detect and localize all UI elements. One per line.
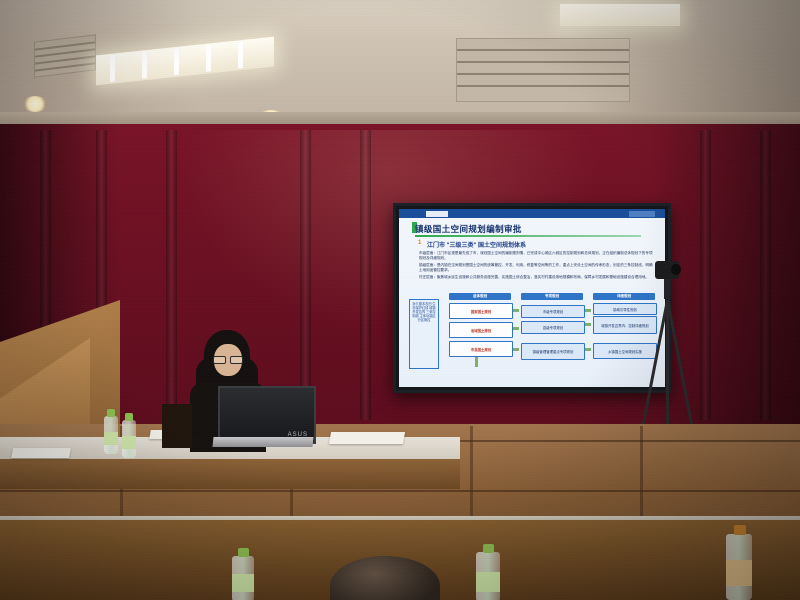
stage-chair-shadow bbox=[162, 404, 192, 448]
slide-content: 镇级国土空间规划编制审批 1 江门市 "三级三类" 国土空间规划体系 市级层面：… bbox=[399, 209, 665, 387]
diagram-arrow-down bbox=[475, 357, 478, 367]
slide-section-number: 1 bbox=[418, 240, 421, 246]
water-bottle-2 bbox=[122, 420, 136, 458]
tripod-head bbox=[664, 279, 670, 299]
wall-drape-seam-4 bbox=[300, 130, 311, 420]
slide-title: 镇级国土空间规划编制审批 bbox=[415, 223, 522, 235]
slide-top-bar-right bbox=[629, 211, 655, 217]
wall-drape-seam-3 bbox=[166, 130, 177, 420]
downlight-1 bbox=[22, 96, 48, 112]
water-bottle-4 bbox=[476, 552, 500, 600]
diagram-arrow-5 bbox=[585, 323, 591, 326]
diagram-main-1: 省域国土规划 bbox=[449, 322, 513, 338]
slide-section-title: 江门市 "三级三类" 国土空间规划体系 bbox=[427, 240, 526, 249]
diagram-arrow-1 bbox=[513, 309, 519, 312]
diagram-main-0: 国家国土规划 bbox=[449, 303, 513, 319]
ceiling-vent-left bbox=[34, 34, 96, 78]
ceiling-light-panel-right bbox=[560, 4, 680, 26]
presenter-table-front bbox=[0, 459, 460, 489]
slide-bullet-2: 镇级层面：是内镇在空间规划是国土空间的统筹管控，开发、利用、修复等空间等的工作，… bbox=[419, 263, 655, 272]
slide-title-rule bbox=[415, 235, 641, 237]
document-stack-2 bbox=[11, 448, 71, 458]
diagram-col-head-1: 专项规划 bbox=[521, 293, 583, 300]
laptop-screen: ASUS bbox=[218, 386, 316, 444]
diagram-arrow-4 bbox=[585, 309, 591, 312]
diagram-detail-0: 镇域引导性规划 bbox=[593, 303, 657, 315]
wall-drape-seam-5 bbox=[360, 130, 371, 420]
diagram-arrow-3 bbox=[513, 348, 519, 351]
water-bottle-3 bbox=[232, 556, 254, 600]
slide-top-bar-tab bbox=[426, 211, 448, 217]
diagram-arrow-2 bbox=[513, 327, 519, 330]
ceiling-vent-center bbox=[456, 38, 630, 102]
diagram-col-head-0: 总体规划 bbox=[449, 293, 511, 300]
diagram-special-0: 市级专项规划 bbox=[521, 305, 585, 318]
diagram-main-2: 市县国土规划 bbox=[449, 341, 513, 357]
slide-bullet-1: 市级层面：江门市区现是最先成了市，谋划国土空间的编制规则情，已完成中心城区六城区… bbox=[419, 251, 655, 260]
diagram-special-1: 县级专项规划 bbox=[521, 321, 585, 334]
diagram-detail-2: 乡镇国土空间规划实施 bbox=[593, 343, 657, 359]
diagram-left-note: 永久基本农田 生态保护红线 城镇开发边界 三条控制线 主体功能区 分区管控 bbox=[409, 299, 439, 369]
laptop-keyboard bbox=[212, 437, 313, 447]
diagram-detail-1: 城镇开发边界内：控制详细规划 bbox=[593, 316, 657, 334]
diagram-col-head-2: 详细规划 bbox=[593, 293, 655, 300]
glasses-icon bbox=[213, 356, 243, 362]
slide-bullet-3: 村庄层面：聚焦城乡民生设施和公共服务设施完善，实施国土综合整治，落实村村建设用地… bbox=[419, 275, 655, 280]
water-bottle-5 bbox=[726, 534, 752, 600]
video-camera-lens-icon bbox=[671, 264, 681, 275]
presentation-screen: 镇级国土空间规划编制审批 1 江门市 "三级三类" 国土空间规划体系 市级层面：… bbox=[393, 203, 671, 393]
slide-diagram: 永久基本农田 生态保护红线 城镇开发边界 三条控制线 主体功能区 分区管控 总体… bbox=[409, 293, 657, 375]
diagram-special-2: 镇级管理管理重点专项规划 bbox=[521, 343, 585, 360]
water-bottle-1 bbox=[104, 416, 118, 454]
document-stack-1 bbox=[329, 432, 405, 444]
diagram-arrow-6 bbox=[585, 348, 591, 351]
photo-scene: 镇级国土空间规划编制审批 1 江门市 "三级三类" 国土空间规划体系 市级层面：… bbox=[0, 0, 800, 600]
